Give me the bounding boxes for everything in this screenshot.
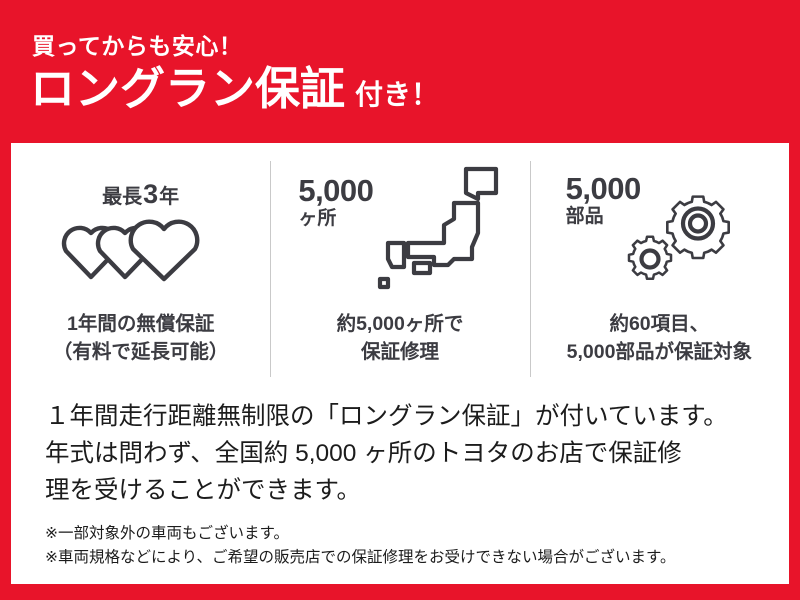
badge-suffix: 年 <box>159 187 179 207</box>
feature-caption: 約60項目、 5,000部品が保証対象 <box>567 311 752 366</box>
feature-column-service-locations: 5,000 ヶ所 <box>270 155 529 383</box>
badge-prefix: 最長 <box>102 187 142 207</box>
badge-number: 5,000 <box>298 175 373 207</box>
feature-graphic-gears: 5,000 部品 <box>530 155 789 303</box>
badge-number: 3 <box>143 181 158 208</box>
note-line-1: ※一部対象外の車両もございます。 <box>45 522 775 546</box>
body-line-2: 年式は問わず、全国約 5,000 ヶ所のトヨタのお店で保証修 <box>45 435 765 472</box>
body-paragraph: １年間走行距離無制限の「ロングラン保証」が付いています。 年式は問わず、全国約 … <box>45 398 765 510</box>
feature-graphic-hearts: 最長 3 年 <box>11 155 270 303</box>
header-title-sub: 付き！ <box>355 81 439 109</box>
caption-line-1: 約60項目、 <box>567 311 752 339</box>
feature-caption: 約5,000ヶ所で 保証修理 <box>337 311 464 366</box>
content-panel: 最長 3 年 1 <box>11 143 789 584</box>
japan-map-icon <box>374 163 506 300</box>
feature-graphic-map: 5,000 ヶ所 <box>270 155 529 303</box>
badge-max-years: 最長 3 年 <box>102 181 179 208</box>
disclaimer-notes: ※一部対象外の車両もございます。 ※車両規格などにより、ご希望の販売店での保証修… <box>45 522 775 569</box>
gears-icon <box>624 177 750 300</box>
badge-locations: 5,000 ヶ所 <box>298 175 373 230</box>
caption-line-1: 1年間の無償保証 <box>53 311 229 339</box>
feature-columns: 最長 3 年 1 <box>11 155 789 383</box>
caption-line-1: 約5,000ヶ所で <box>337 311 464 339</box>
feature-column-warranty-years: 最長 3 年 1 <box>11 155 270 383</box>
body-line-3: 理を受けることができます。 <box>45 472 765 509</box>
caption-line-2: （有料で延長可能） <box>53 339 229 367</box>
note-line-2: ※車両規格などにより、ご希望の販売店での保証修理をお受けできない場合がございます… <box>45 546 775 570</box>
feature-caption: 1年間の無償保証 （有料で延長可能） <box>53 311 229 366</box>
banner-header: 買ってからも安心！ ロングラン保証 付き！ <box>0 0 800 143</box>
header-title-main: ロングラン保証 <box>30 66 345 111</box>
caption-line-2: 5,000部品が保証対象 <box>567 339 752 367</box>
feature-column-covered-parts: 5,000 部品 <box>530 155 789 383</box>
header-title: ロングラン保証 付き！ <box>30 66 439 111</box>
long-run-warranty-banner: 買ってからも安心！ ロングラン保証 付き！ 最長 3 年 <box>0 0 800 600</box>
hearts-icon <box>59 217 223 288</box>
body-line-1: １年間走行距離無制限の「ロングラン保証」が付いています。 <box>45 398 765 435</box>
caption-line-2: 保証修理 <box>337 339 464 367</box>
header-eyebrow: 買ってからも安心！ <box>32 27 242 61</box>
badge-unit: ヶ所 <box>298 209 373 230</box>
